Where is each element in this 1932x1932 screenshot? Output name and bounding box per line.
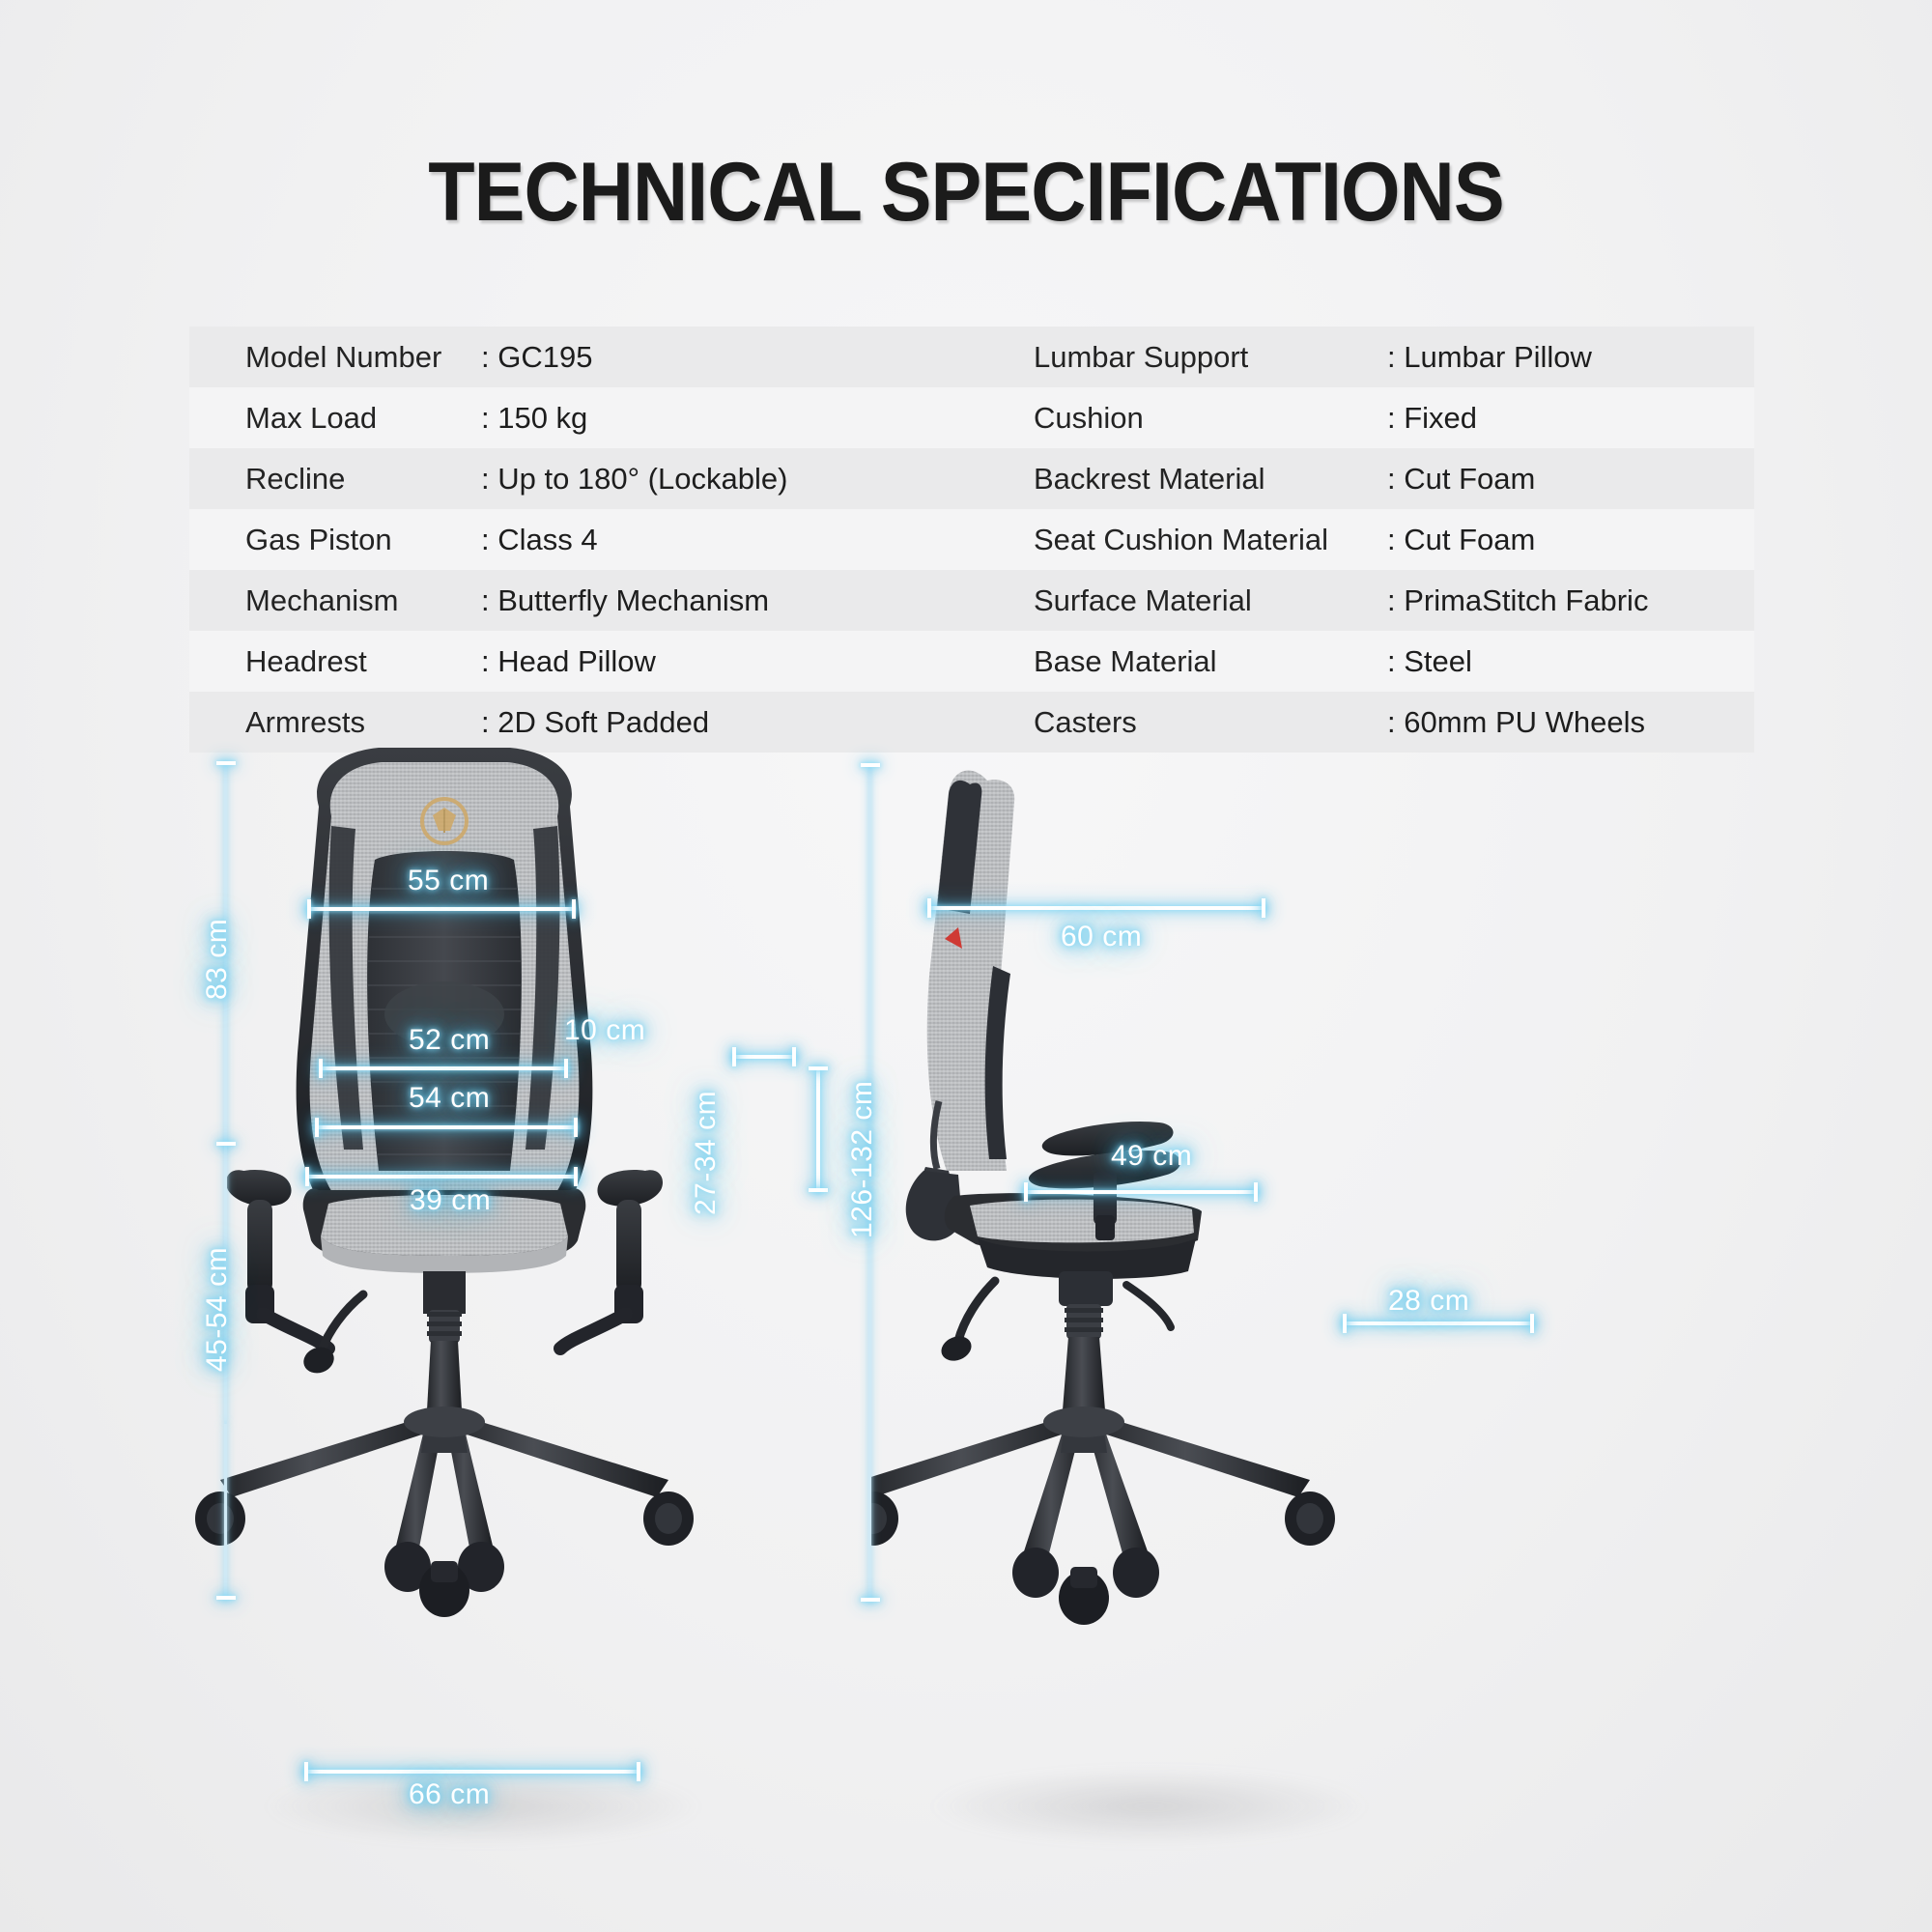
dim-cap	[319, 1059, 323, 1078]
dim-cap	[861, 763, 880, 767]
chair-base	[220, 1406, 668, 1548]
dim-label-39cm: 39 cm	[410, 1184, 491, 1217]
dim-bar-28cm	[1343, 1321, 1534, 1325]
table-row: Headrest : Head Pillow Base Material : S…	[189, 631, 1754, 692]
dim-bar-39cm	[305, 1175, 578, 1179]
dim-bar-49cm	[1024, 1190, 1258, 1194]
spec-label: Seat Cushion Material	[1020, 523, 1387, 557]
dim-label-55cm: 55 cm	[408, 865, 489, 897]
spec-cell-right: Cushion : Fixed	[1020, 387, 1754, 448]
dim-bar-55cm	[307, 907, 576, 911]
spec-label: Max Load	[189, 401, 481, 436]
spec-label: Cushion	[1020, 401, 1387, 436]
spec-value: : Cut Foam	[1387, 462, 1535, 497]
dim-cap	[564, 1059, 568, 1078]
dim-bar-66cm	[304, 1770, 640, 1774]
dim-cap	[574, 1167, 578, 1186]
spec-label: Surface Material	[1020, 583, 1387, 618]
spec-value: : Fixed	[1387, 401, 1477, 436]
dim-cap	[732, 1047, 736, 1066]
table-row: Recline : Up to 180° (Lockable) Backrest…	[189, 448, 1754, 509]
spec-value: : Head Pillow	[481, 644, 656, 679]
spec-value: : 150 kg	[481, 401, 587, 436]
dim-cap	[861, 1598, 880, 1602]
dim-cap	[305, 1167, 309, 1186]
dim-label-126-132cm: 126-132 cm	[846, 1081, 879, 1238]
spec-cell-right: Seat Cushion Material : Cut Foam	[1020, 509, 1754, 570]
chair-base	[869, 1406, 1310, 1553]
spec-cell-left: Gas Piston : Class 4	[189, 509, 1020, 570]
dim-label-28cm: 28 cm	[1388, 1285, 1469, 1318]
dim-label-60cm: 60 cm	[1061, 921, 1142, 953]
spec-label: Lumbar Support	[1020, 340, 1387, 375]
spec-cell-left: Mechanism : Butterfly Mechanism	[189, 570, 1020, 631]
spec-cell-right: Base Material : Steel	[1020, 631, 1754, 692]
dim-cap	[315, 1118, 319, 1137]
dim-cap	[1254, 1182, 1258, 1202]
dim-cap	[927, 898, 931, 918]
dim-cap	[1530, 1314, 1534, 1333]
dim-cap	[1024, 1182, 1028, 1202]
dim-cap	[809, 1066, 828, 1070]
spec-value: : Butterfly Mechanism	[481, 583, 769, 618]
spec-label: Model Number	[189, 340, 481, 375]
dim-label-45-54cm: 45-54 cm	[201, 1247, 234, 1372]
dim-bar-27-34cm	[816, 1070, 820, 1192]
dim-cap	[216, 1596, 236, 1600]
spec-cell-right: Lumbar Support : Lumbar Pillow	[1020, 327, 1754, 387]
dim-cap	[304, 1762, 308, 1781]
spec-label: Recline	[189, 462, 481, 497]
spec-value: : PrimaStitch Fabric	[1387, 583, 1648, 618]
dim-cap	[1343, 1314, 1347, 1333]
dim-label-49cm: 49 cm	[1111, 1140, 1192, 1173]
spec-value: : 60mm PU Wheels	[1387, 705, 1645, 740]
dim-label-10cm: 10 cm	[564, 1014, 645, 1047]
spec-cell-left: Model Number : GC195	[189, 327, 1020, 387]
dim-cap	[809, 1188, 828, 1192]
page-title: TECHNICAL SPECIFICATIONS	[77, 145, 1855, 241]
spec-label: Base Material	[1020, 644, 1387, 679]
table-row: Mechanism : Butterfly Mechanism Surface …	[189, 570, 1754, 631]
dim-label-52cm: 52 cm	[409, 1024, 490, 1057]
dim-cap	[574, 1118, 578, 1137]
spec-value: : GC195	[481, 340, 592, 375]
spec-cell-left: Headrest : Head Pillow	[189, 631, 1020, 692]
dim-label-83cm: 83 cm	[201, 919, 234, 1000]
dim-cap	[216, 1142, 236, 1146]
dim-cap	[572, 899, 576, 919]
dim-bar-60cm	[927, 906, 1265, 910]
dim-label-66cm: 66 cm	[409, 1778, 490, 1811]
spec-cell-right: Surface Material : PrimaStitch Fabric	[1020, 570, 1754, 631]
dim-cap	[307, 899, 311, 919]
dim-bar-54cm	[315, 1125, 578, 1129]
spec-label: Mechanism	[189, 583, 481, 618]
spec-label: Headrest	[189, 644, 481, 679]
table-row: Model Number : GC195 Lumbar Support : Lu…	[189, 327, 1754, 387]
dim-bar-10cm	[732, 1055, 796, 1059]
specifications-table: Model Number : GC195 Lumbar Support : Lu…	[189, 327, 1754, 753]
dim-cap	[1262, 898, 1265, 918]
dim-cap	[637, 1762, 640, 1781]
dim-cap	[792, 1047, 796, 1066]
dim-bar-52cm	[319, 1066, 568, 1070]
caster-wheel-icon	[869, 1492, 1335, 1625]
caster-wheel-icon	[195, 1492, 694, 1617]
spec-label: Gas Piston	[189, 523, 481, 557]
spec-value: : Steel	[1387, 644, 1472, 679]
spec-value: : Class 4	[481, 523, 598, 557]
dim-cap	[216, 761, 236, 765]
dim-rail-seat-height-2	[224, 1424, 227, 1600]
spec-value: : Lumbar Pillow	[1387, 340, 1592, 375]
spec-value: : Up to 180° (Lockable)	[481, 462, 787, 497]
dim-label-27-34cm: 27-34 cm	[690, 1091, 723, 1215]
dim-label-54cm: 54 cm	[409, 1082, 490, 1115]
table-row: Gas Piston : Class 4 Seat Cushion Materi…	[189, 509, 1754, 570]
spec-value: : Cut Foam	[1387, 523, 1535, 557]
spec-cell-right: Backrest Material : Cut Foam	[1020, 448, 1754, 509]
table-row: Max Load : 150 kg Cushion : Fixed	[189, 387, 1754, 448]
spec-label: Backrest Material	[1020, 462, 1387, 497]
spec-cell-left: Max Load : 150 kg	[189, 387, 1020, 448]
spec-cell-left: Recline : Up to 180° (Lockable)	[189, 448, 1020, 509]
